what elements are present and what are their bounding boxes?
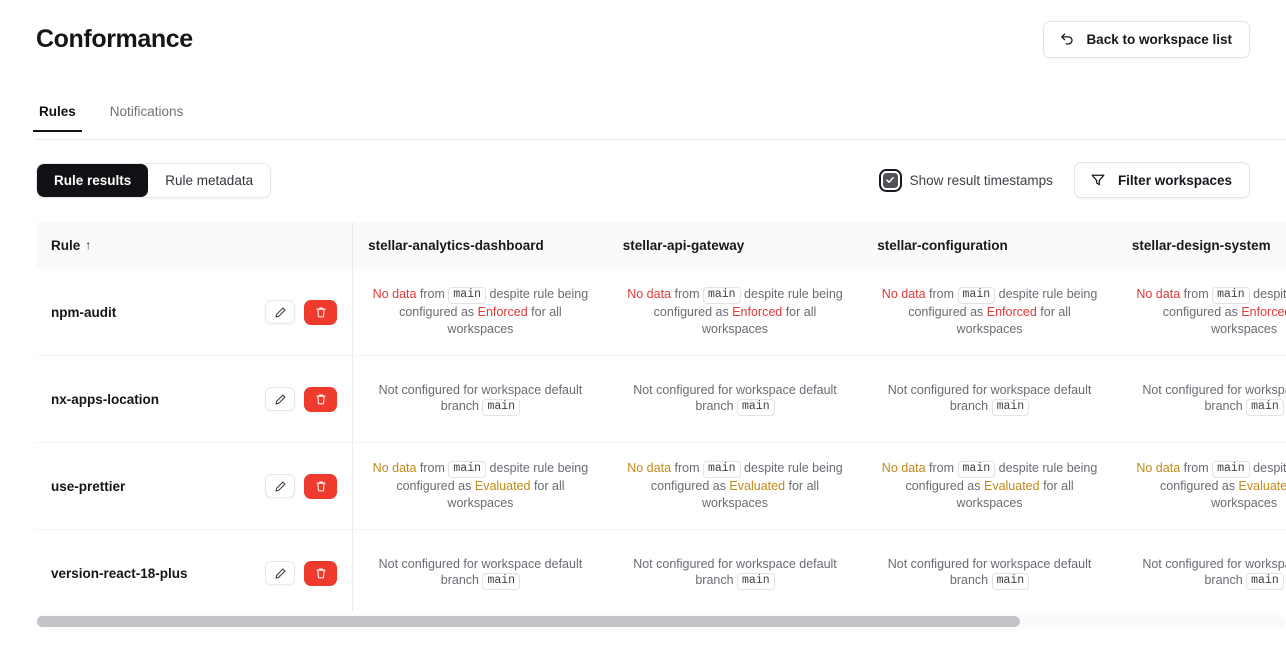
checkbox-checked-icon[interactable]	[883, 173, 898, 188]
branch-badge: main	[1246, 573, 1284, 590]
rule-name: use-prettier	[51, 479, 265, 494]
result-cell: Not configured for workspace default bra…	[608, 356, 863, 443]
cell-text: from	[671, 461, 703, 475]
branch-badge: main	[448, 287, 486, 304]
pencil-icon	[274, 306, 287, 319]
branch-badge: main	[958, 287, 996, 304]
result-cell: No data from main despite rule being con…	[608, 443, 863, 530]
branch-badge: main	[958, 461, 996, 478]
delete-rule-button[interactable]	[304, 474, 337, 499]
trash-icon	[315, 393, 327, 406]
branch-badge: main	[703, 461, 741, 478]
funnel-icon	[1090, 172, 1106, 188]
view-mode-segmented-control: Rule results Rule metadata	[36, 163, 271, 198]
table-row: nx-apps-locationNot configured for works…	[36, 356, 1286, 443]
result-cell: No data from main despite rule being con…	[1117, 269, 1286, 356]
result-cell: No data from main despite rule being con…	[608, 269, 863, 356]
rule-name: nx-apps-location	[51, 392, 265, 407]
branch-badge: main	[703, 287, 741, 304]
sort-ascending-icon: ↑	[85, 238, 91, 252]
result-cell: Not configured for workspace default bra…	[862, 356, 1117, 443]
back-button-label: Back to workspace list	[1086, 32, 1232, 47]
status-mode: Enforced	[1241, 305, 1286, 319]
row-actions	[265, 561, 337, 586]
cell-text: Not configured for workspace default bra…	[633, 383, 837, 414]
table-head: Rule ↑ stellar-analytics-dashboard stell…	[36, 222, 1286, 269]
conformance-table: Rule ↑ stellar-analytics-dashboard stell…	[36, 222, 1286, 611]
branch-badge: main	[737, 573, 775, 590]
back-to-workspace-list-button[interactable]: Back to workspace list	[1043, 21, 1250, 58]
cell-text: from	[416, 461, 448, 475]
status-mode: Evaluated	[729, 479, 785, 493]
back-arrow-icon	[1059, 31, 1075, 47]
branch-badge: main	[1212, 461, 1250, 478]
result-cell: Not configured for workspace default bra…	[862, 530, 1117, 611]
filter-button-label: Filter workspaces	[1118, 173, 1232, 188]
show-result-timestamps-checkbox[interactable]: Show result timestamps	[880, 173, 1053, 188]
pencil-icon	[274, 393, 287, 406]
filter-workspaces-button[interactable]: Filter workspaces	[1074, 162, 1250, 198]
column-header-workspace-1[interactable]: stellar-api-gateway	[608, 222, 863, 269]
tab-notifications[interactable]: Notifications	[107, 104, 187, 132]
cell-text: Not configured for workspace default bra…	[888, 557, 1092, 588]
cell-text: from	[1180, 287, 1212, 301]
pencil-icon	[274, 480, 287, 493]
trash-icon	[315, 306, 327, 319]
cell-text: Not configured for workspace default bra…	[379, 557, 583, 588]
edit-rule-button[interactable]	[265, 387, 295, 411]
branch-badge: main	[482, 399, 520, 416]
rule-cell: use-prettier	[36, 443, 353, 530]
branch-badge: main	[737, 399, 775, 416]
column-header-workspace-0[interactable]: stellar-analytics-dashboard	[353, 222, 608, 269]
delete-rule-button[interactable]	[304, 561, 337, 586]
status-no-data: No data	[627, 461, 671, 475]
edit-rule-button[interactable]	[265, 561, 295, 585]
result-cell: No data from main despite rule being con…	[353, 443, 608, 530]
cell-text: from	[671, 287, 703, 301]
conformance-page: Conformance Back to workspace list Rules…	[0, 0, 1286, 667]
edit-rule-button[interactable]	[265, 474, 295, 498]
rule-column-label: Rule	[51, 238, 80, 253]
tab-rules[interactable]: Rules	[36, 104, 79, 132]
trash-icon	[315, 567, 327, 580]
rule-cell: version-react-18-plus	[36, 530, 353, 611]
status-no-data: No data	[1136, 461, 1180, 475]
branch-badge: main	[448, 461, 486, 478]
edit-rule-button[interactable]	[265, 300, 295, 324]
page-header: Conformance Back to workspace list	[0, 0, 1286, 78]
result-cell: Not configured for workspace default bra…	[608, 530, 863, 611]
workspace-column-label: stellar-analytics-dashboard	[353, 238, 608, 253]
status-mode: Enforced	[987, 305, 1037, 319]
row-actions	[265, 300, 337, 325]
cell-text: from	[1180, 461, 1212, 475]
workspace-column-label: stellar-configuration	[862, 238, 1117, 253]
status-mode: Enforced	[478, 305, 528, 319]
row-actions	[265, 387, 337, 412]
tabs-bar: Rules Notifications	[0, 104, 1286, 140]
status-mode: Evaluated	[984, 479, 1040, 493]
rule-name: npm-audit	[51, 305, 265, 320]
cell-text: from	[926, 461, 958, 475]
rule-name: version-react-18-plus	[51, 566, 265, 581]
cell-text: Not configured for workspace default bra…	[379, 383, 583, 414]
cell-text: Not configured for workspace default bra…	[633, 557, 837, 588]
branch-badge: main	[992, 573, 1030, 590]
result-cell: Not configured for workspace default bra…	[1117, 356, 1286, 443]
branch-badge: main	[482, 573, 520, 590]
toolbar-right-group: Show result timestamps Filter workspaces	[880, 162, 1250, 198]
result-cell: No data from main despite rule being con…	[1117, 443, 1286, 530]
table-row: npm-auditNo data from main despite rule …	[36, 269, 1286, 356]
toolbar: Rule results Rule metadata Show result t…	[0, 162, 1286, 198]
cell-text: from	[926, 287, 958, 301]
column-header-workspace-3[interactable]: stellar-design-system	[1117, 222, 1286, 269]
result-cell: No data from main despite rule being con…	[862, 269, 1117, 356]
status-mode: Evaluated	[1239, 479, 1286, 493]
column-header-rule[interactable]: Rule ↑	[36, 222, 353, 269]
status-no-data: No data	[627, 287, 671, 301]
status-no-data: No data	[882, 287, 926, 301]
result-cell: No data from main despite rule being con…	[862, 443, 1117, 530]
status-no-data: No data	[882, 461, 926, 475]
cell-text: from	[416, 287, 448, 301]
pencil-icon	[274, 567, 287, 580]
table-row: use-prettierNo data from main despite ru…	[36, 443, 1286, 530]
delete-rule-button[interactable]	[304, 387, 337, 412]
branch-badge: main	[1246, 399, 1284, 416]
result-cell: Not configured for workspace default bra…	[353, 530, 608, 611]
result-cell: Not configured for workspace default bra…	[353, 356, 608, 443]
horizontal-scrollbar-thumb[interactable]	[37, 616, 1020, 627]
table-body: npm-auditNo data from main despite rule …	[36, 269, 1286, 611]
status-no-data: No data	[1136, 287, 1180, 301]
segment-rule-metadata[interactable]: Rule metadata	[148, 164, 270, 197]
column-header-workspace-2[interactable]: stellar-configuration	[862, 222, 1117, 269]
page-title: Conformance	[36, 27, 193, 52]
workspace-column-label: stellar-api-gateway	[608, 238, 863, 253]
result-cell: Not configured for workspace default bra…	[1117, 530, 1286, 611]
workspace-column-label: stellar-design-system	[1117, 238, 1286, 253]
status-no-data: No data	[373, 287, 417, 301]
checkbox-label: Show result timestamps	[910, 173, 1053, 188]
conformance-table-viewport[interactable]: Rule ↑ stellar-analytics-dashboard stell…	[36, 222, 1286, 611]
branch-badge: main	[1212, 287, 1250, 304]
status-mode: Enforced	[732, 305, 782, 319]
segment-rule-results[interactable]: Rule results	[37, 164, 148, 197]
status-no-data: No data	[373, 461, 417, 475]
horizontal-scrollbar-track[interactable]	[36, 615, 1286, 628]
status-mode: Evaluated	[475, 479, 531, 493]
delete-rule-button[interactable]	[304, 300, 337, 325]
row-actions	[265, 474, 337, 499]
rule-cell: npm-audit	[36, 269, 353, 356]
branch-badge: main	[992, 399, 1030, 416]
result-cell: No data from main despite rule being con…	[353, 269, 608, 356]
table-row: version-react-18-plusNot configured for …	[36, 530, 1286, 611]
cell-text: Not configured for workspace default bra…	[888, 383, 1092, 414]
table-header-row: Rule ↑ stellar-analytics-dashboard stell…	[36, 222, 1286, 269]
rule-cell: nx-apps-location	[36, 356, 353, 443]
trash-icon	[315, 480, 327, 493]
